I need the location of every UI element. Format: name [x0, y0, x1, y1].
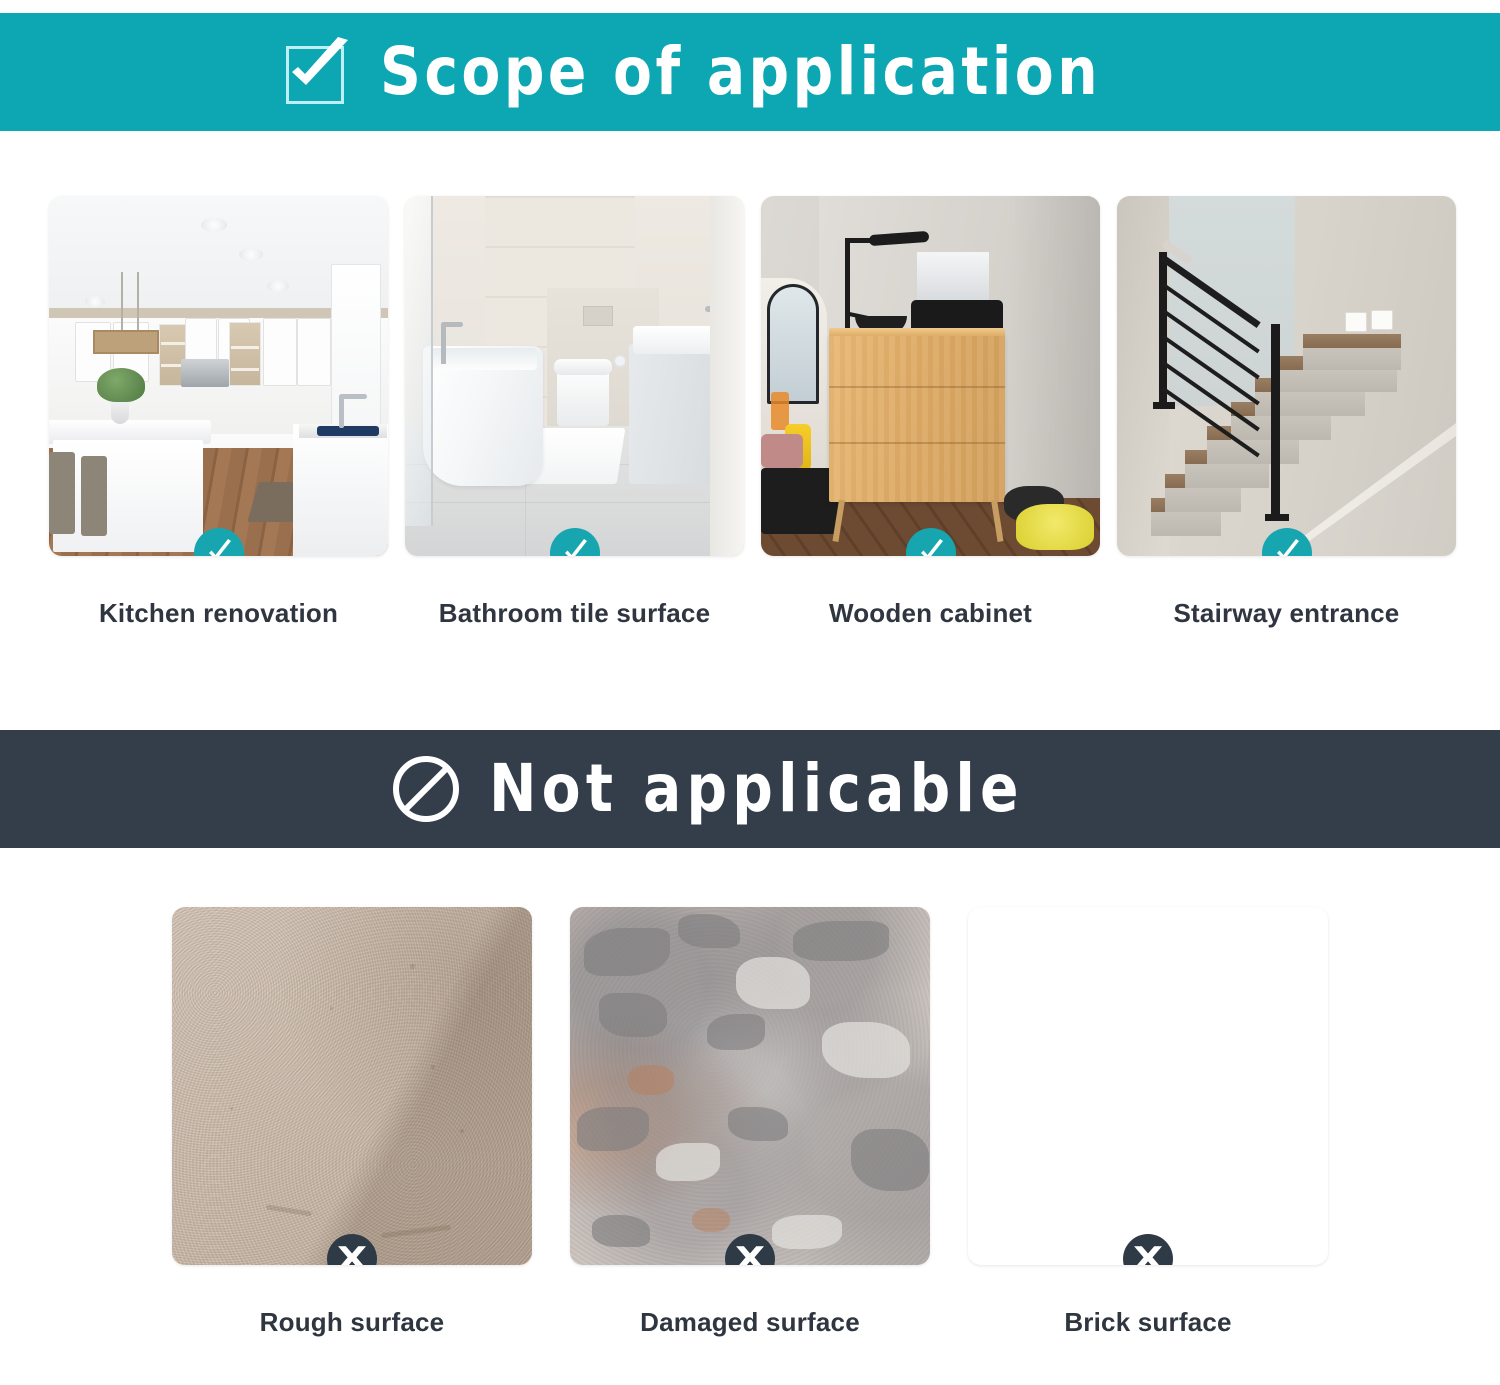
x-badge: X [1123, 1234, 1173, 1265]
bathroom-image [405, 196, 744, 556]
applicable-items-row: Kitchen renovation [0, 196, 1500, 629]
card-caption: Stairway entrance [1117, 598, 1456, 629]
prohibition-icon [389, 752, 463, 826]
x-glyph: X [1133, 1243, 1163, 1265]
banner-title-not-applicable: Not applicable [489, 756, 1024, 822]
card-caption: Kitchen renovation [49, 598, 388, 629]
scope-of-application-banner: Scope of application [0, 13, 1500, 131]
brick-surface-image: X [968, 907, 1328, 1265]
rough-surface-image: X [172, 907, 532, 1265]
damaged-surface-image: X [570, 907, 930, 1265]
checkbox-check-icon [282, 36, 354, 108]
card-caption: Damaged surface [570, 1307, 930, 1338]
kitchen-image [49, 196, 388, 556]
not-applicable-items-row: X Rough surface [0, 907, 1500, 1338]
not-applicable-banner: Not applicable [0, 730, 1500, 848]
infographic-page: Scope of application [0, 0, 1500, 1385]
x-glyph: X [337, 1243, 367, 1265]
applicable-card-stairway[interactable]: Stairway entrance [1117, 196, 1456, 629]
applicable-card-cabinet[interactable]: Wooden cabinet [761, 196, 1100, 629]
not-applicable-card-rough[interactable]: X Rough surface [172, 907, 532, 1338]
wooden-cabinet-image [761, 196, 1100, 556]
not-applicable-card-brick[interactable]: X Brick surface [968, 907, 1328, 1338]
stairway-image [1117, 196, 1456, 556]
banner-title-applicable: Scope of application [380, 39, 1101, 105]
applicable-card-kitchen[interactable]: Kitchen renovation [49, 196, 388, 629]
not-applicable-card-damaged[interactable]: X Damaged surface [570, 907, 930, 1338]
card-caption: Bathroom tile surface [405, 598, 744, 629]
card-caption: Wooden cabinet [761, 598, 1100, 629]
card-caption: Rough surface [172, 1307, 532, 1338]
card-caption: Brick surface [968, 1307, 1328, 1338]
x-glyph: X [735, 1243, 765, 1265]
applicable-card-bathroom[interactable]: Bathroom tile surface [405, 196, 744, 629]
